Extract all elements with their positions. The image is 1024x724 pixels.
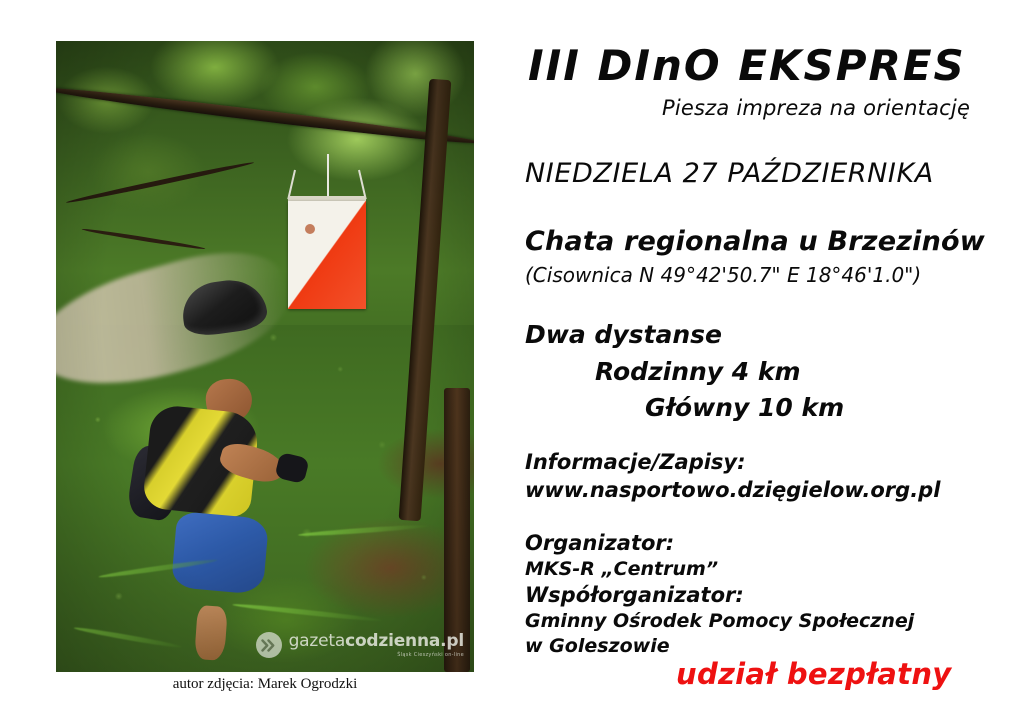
info-heading: Informacje/Zapisy: (525, 450, 746, 474)
event-coordinates: (Cisownica N 49°42'50.7" E 18°46'1.0") (525, 263, 921, 287)
double-chevron-icon (256, 632, 282, 658)
participant-leg (194, 605, 228, 661)
coorganizer-heading: Współorganizator: (525, 583, 744, 607)
coorganizer-city: w Goleszowie (525, 635, 670, 657)
distance-family: Rodzinny 4 km (595, 357, 801, 386)
distances-heading: Dwa dystanse (525, 320, 722, 349)
coorganizer-name: Gminny Ośrodek Pomocy Społecznej (525, 610, 914, 632)
watermark-text-group: gazetacodzienna.pl Śląsk Cieszyński on-l… (289, 633, 464, 658)
event-photo: gazetacodzienna.pl Śląsk Cieszyński on-l… (56, 41, 474, 672)
organizer-name: MKS-R „Centrum” (525, 558, 718, 580)
free-participation-badge: udział bezpłatny (676, 657, 952, 691)
watermark-tagline: Śląsk Cieszyński on-line (289, 653, 464, 658)
event-date: NIEDZIELA 27 PAŹDZIERNIKA (525, 158, 934, 189)
cycling-helmet (179, 275, 269, 338)
poster-page: gazetacodzienna.pl Śląsk Cieszyński on-l… (0, 0, 1024, 724)
poster-subtitle: Piesza impreza na orientację (662, 96, 970, 120)
participant-figure (131, 281, 327, 660)
photo-watermark: gazetacodzienna.pl Śląsk Cieszyński on-l… (256, 632, 464, 658)
registration-url[interactable]: www.nasportowo.dzięgielow.org.pl (525, 478, 940, 502)
poster-title: III DInO EKSPRES (528, 41, 966, 90)
participant-shorts (171, 512, 269, 596)
tree-trunk-far-right (444, 388, 470, 672)
poster-text-column: III DInO EKSPRES Piesza impreza na orien… (512, 0, 1024, 724)
organizer-heading: Organizator: (525, 531, 674, 555)
watermark-brand-light: gazeta (289, 631, 345, 651)
distance-main: Główny 10 km (645, 393, 844, 422)
flag-punch-marker (305, 224, 315, 234)
event-venue: Chata regionalna u Brzezinów (525, 226, 985, 257)
photo-credit: autor zdjęcia: Marek Ogrodzki (56, 676, 474, 693)
watermark-brand: gazetacodzienna.pl (289, 633, 464, 650)
participant-glove (274, 452, 309, 484)
watermark-brand-bold: codzienna.pl (345, 631, 464, 651)
photo-canvas: gazetacodzienna.pl Śląsk Cieszyński on-l… (56, 41, 474, 672)
flag-hanging-cord (327, 154, 329, 198)
